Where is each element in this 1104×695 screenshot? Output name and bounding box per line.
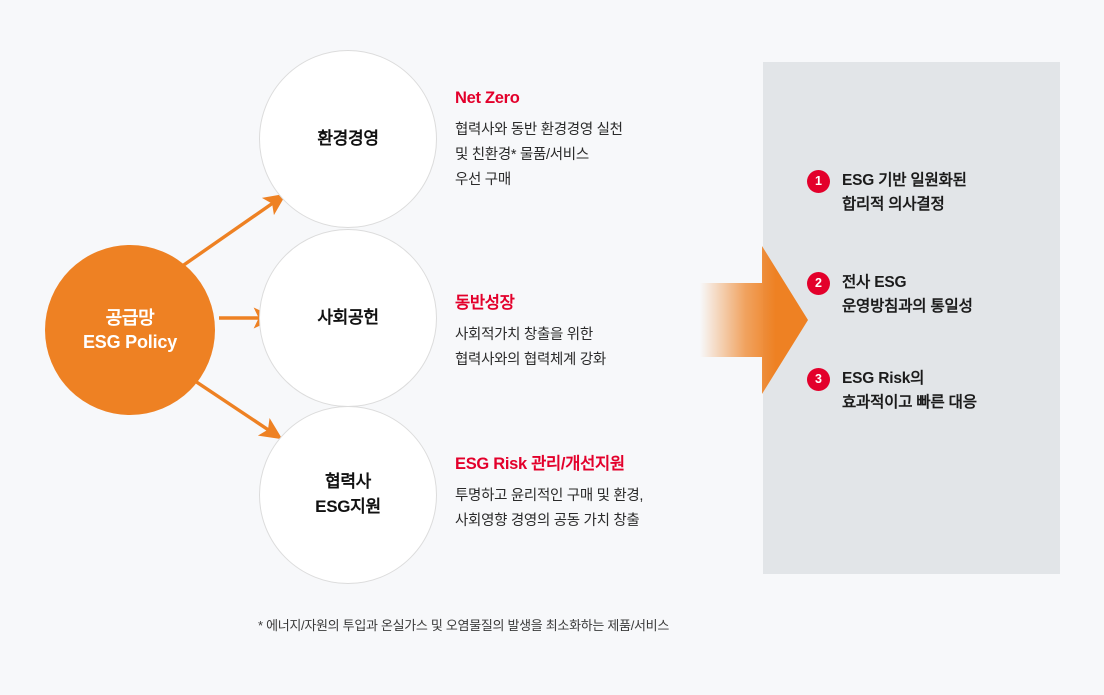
pillar-circle-partner-esg: 협력사 ESG지원: [259, 406, 437, 584]
result-item: 2 전사 ESG 운영방침과의 통일성: [807, 271, 973, 319]
result-item: 1 ESG 기반 일원화된 합리적 의사결정: [807, 169, 967, 217]
pillar-title-2: 동반성장: [455, 289, 606, 313]
pillar-title-1: Net Zero: [455, 89, 623, 108]
footnote: * 에너지/자원의 투입과 온실가스 및 오염물질의 발생을 최소화하는 제품/…: [258, 615, 669, 634]
pillar-circle-label-2: 사회공헌: [317, 306, 378, 331]
hub-label-line2: ESG Policy: [83, 330, 177, 354]
pillar-circle-label-3: 협력사 ESG지원: [315, 470, 381, 519]
result-badge-2: 2: [807, 272, 830, 295]
hub-label-line1: 공급망: [106, 306, 155, 330]
pillar-desc-2: 사회적가치 창출을 위한 협력사와의 협력체계 강화: [455, 323, 606, 373]
pillar-circle-social: 사회공헌: [259, 229, 437, 407]
pillar-title-3: ESG Risk 관리/개선지원: [455, 450, 643, 474]
pillar-desc-3: 투명하고 윤리적인 구매 및 환경, 사회영향 경영의 공동 가치 창출: [455, 484, 643, 534]
pillar-text-block-2: 동반성장 사회적가치 창출을 위한 협력사와의 협력체계 강화: [455, 289, 606, 373]
result-text-1: ESG 기반 일원화된 합리적 의사결정: [842, 169, 967, 217]
pillar-text-block-1: Net Zero 협력사와 동반 환경경영 실천 및 친환경* 물품/서비스 우…: [455, 89, 623, 193]
pillar-desc-1: 협력사와 동반 환경경영 실천 및 친환경* 물품/서비스 우선 구매: [455, 118, 623, 193]
result-item: 3 ESG Risk의 효과적이고 빠른 대응: [807, 367, 977, 415]
supply-chain-esg-policy-hub: 공급망 ESG Policy: [45, 245, 215, 415]
pillar-circle-label-1: 환경경영: [317, 127, 378, 152]
connector-arrow-top: [178, 196, 283, 269]
esg-policy-diagram: 1 ESG 기반 일원화된 합리적 의사결정 2 전사 ESG 운영방침과의 통…: [0, 0, 1104, 690]
result-text-2: 전사 ESG 운영방침과의 통일성: [842, 271, 973, 319]
result-text-3: ESG Risk의 효과적이고 빠른 대응: [842, 367, 977, 415]
result-badge-1: 1: [807, 170, 830, 193]
pillar-text-block-3: ESG Risk 관리/개선지원 투명하고 윤리적인 구매 및 환경, 사회영향…: [455, 450, 643, 534]
pillar-circle-environment: 환경경영: [259, 50, 437, 228]
result-badge-3: 3: [807, 368, 830, 391]
big-right-arrow-icon: [700, 246, 808, 394]
